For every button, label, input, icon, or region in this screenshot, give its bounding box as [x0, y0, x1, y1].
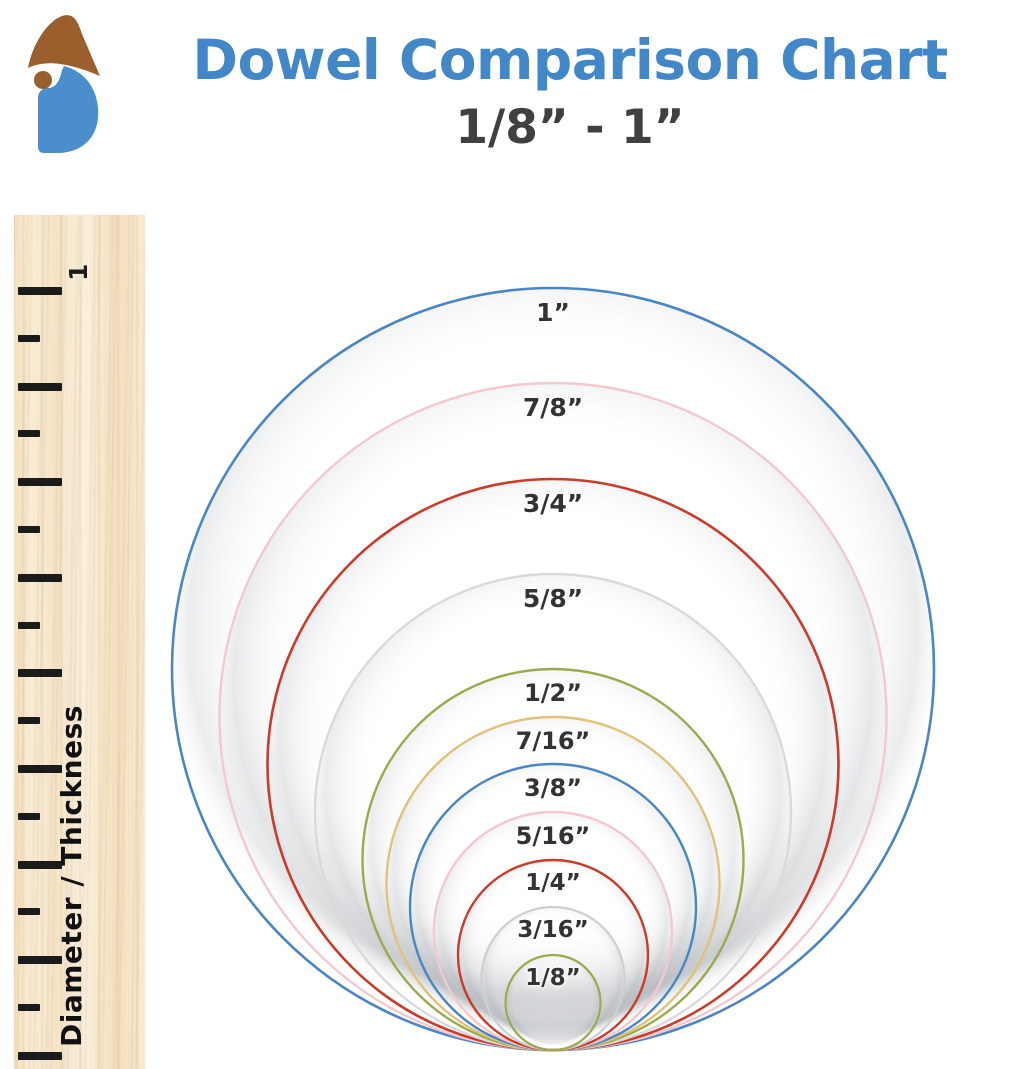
ruler-scale: 1 Diameter / Thickness [14, 215, 145, 1069]
dowel-circle [220, 383, 887, 1050]
ruler-tick-minor [18, 335, 40, 342]
ruler-tick-major [18, 669, 62, 677]
dowel-circle-shade [410, 764, 696, 1050]
ruler-tick-minor [18, 1004, 40, 1011]
ruler-tick-minor [18, 908, 40, 915]
logo-eye-icon [34, 71, 52, 89]
dowel-size-label: 3/16” [517, 917, 589, 943]
header: Dowel Comparison Chart 1/8” - 1” [0, 0, 1027, 210]
ruler-tick-minor [18, 622, 40, 629]
dowel-size-label: 3/4” [523, 489, 583, 518]
ruler-tick-minor [18, 430, 40, 437]
dowel-size-label: 1/4” [525, 870, 581, 896]
dowel-size-label: 1/8” [525, 965, 581, 991]
dowel-size-label: 5/8” [523, 584, 583, 613]
ruler-tick-major [18, 574, 62, 582]
dowel-size-label: 7/8” [523, 393, 583, 422]
page-title: Dowel Comparison Chart [120, 32, 1020, 90]
ruler-inch-label: 1 [64, 264, 93, 281]
ruler-tick-minor [18, 717, 40, 724]
dowel-size-label: 5/16” [516, 822, 591, 850]
gnome-logo-svg [16, 8, 112, 158]
dowel-circle-shade [220, 383, 887, 1050]
page-subtitle: 1/8” - 1” [120, 104, 1020, 151]
ruler-tick-major [18, 1052, 62, 1060]
ruler-tick-major [18, 383, 62, 391]
ruler-tick-minor [18, 813, 40, 820]
ruler-axis-label: Diameter / Thickness [55, 705, 88, 1047]
dowel-size-label: 1/2” [524, 679, 582, 707]
ruler-tick-major [18, 478, 62, 486]
dowel-size-label: 1” [536, 298, 570, 327]
title-block: Dowel Comparison Chart 1/8” - 1” [120, 32, 1020, 151]
gnome-logo [16, 8, 112, 158]
dowel-size-label: 3/8” [524, 774, 582, 802]
dowel-size-label: 7/16” [516, 727, 591, 755]
dowel-circle [410, 764, 696, 1050]
ruler-tick-major [18, 287, 62, 295]
ruler-tick-minor [18, 526, 40, 533]
